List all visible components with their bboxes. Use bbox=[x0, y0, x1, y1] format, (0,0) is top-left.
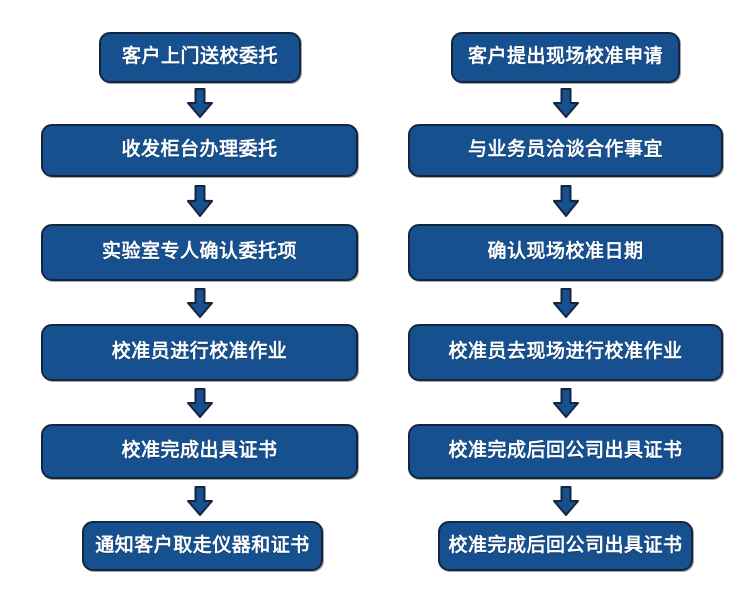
flow-node-r3[interactable]: 确认现场校准日期 bbox=[408, 224, 723, 281]
flowchart-canvas: 客户上门送校委托收发柜台办理委托实验室专人确认委托项校准员进行校准作业校准完成出… bbox=[0, 0, 750, 610]
arrow-down-icon bbox=[552, 486, 580, 516]
flow-node-r2[interactable]: 与业务员洽谈合作事宜 bbox=[408, 124, 723, 177]
flow-column-on-site-calibration-flow: 客户提出现场校准申请与业务员洽谈合作事宜确认现场校准日期校准员去现场进行校准作业… bbox=[0, 0, 750, 610]
flow-node-r4[interactable]: 校准员去现场进行校准作业 bbox=[408, 324, 723, 381]
flow-node-label: 校准完成后回公司出具证书 bbox=[448, 536, 682, 557]
flow-node-r1[interactable]: 客户提出现场校准申请 bbox=[451, 32, 680, 83]
arrow-down-icon bbox=[552, 185, 580, 217]
flow-node-r6[interactable]: 校准完成后回公司出具证书 bbox=[438, 521, 693, 571]
flow-node-label: 客户提出现场校准申请 bbox=[468, 47, 663, 68]
arrow-down-icon bbox=[552, 288, 580, 318]
flow-node-label: 校准员去现场进行校准作业 bbox=[448, 342, 682, 363]
flow-node-r5[interactable]: 校准完成后回公司出具证书 bbox=[408, 424, 723, 479]
flow-node-label: 与业务员洽谈合作事宜 bbox=[468, 140, 663, 161]
arrow-down-icon bbox=[552, 88, 580, 118]
arrow-down-icon bbox=[552, 388, 580, 418]
flow-node-label: 校准完成后回公司出具证书 bbox=[448, 441, 682, 462]
flow-node-label: 确认现场校准日期 bbox=[487, 242, 643, 263]
